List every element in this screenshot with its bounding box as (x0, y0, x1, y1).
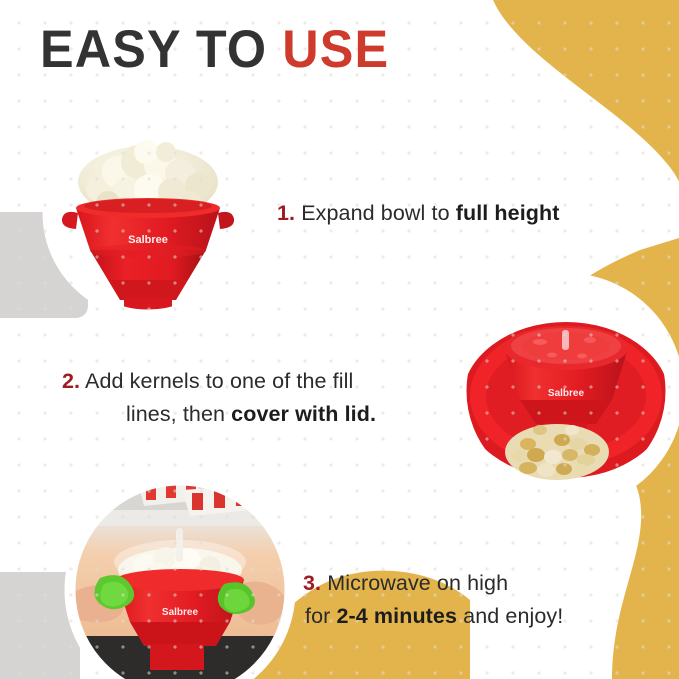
step-2-line2-bold: cover with lid. (231, 402, 376, 426)
step-2-line1-regular: Add kernels to one of the fill (80, 369, 353, 393)
step-1-line1-bold: full height (456, 201, 560, 225)
step-3-line2-regular: for (305, 604, 336, 628)
svg-text:Salbree: Salbree (548, 388, 585, 399)
page-title: EASY TO USE (40, 22, 389, 78)
step-3-line1-regular: Microwave on high (321, 571, 508, 595)
step-2-line2: lines, then cover with lid. (62, 398, 422, 431)
step-3-line2-tail: and enjoy! (457, 604, 563, 628)
title-accent: USE (282, 20, 389, 79)
step-1-line1-regular: Expand bowl to (295, 201, 456, 225)
step-3-line2: for 2-4 minutes and enjoy! (303, 600, 633, 633)
step-2-number: 2. (62, 369, 80, 393)
svg-text:Salbree: Salbree (128, 234, 168, 246)
step-2-line2-regular: lines, then (126, 402, 231, 426)
title-part-1: EASY TO (40, 20, 282, 79)
step-3-line2-bold: 2-4 minutes (336, 604, 457, 628)
step-2-text: 2. Add kernels to one of the fill lines,… (62, 365, 422, 431)
infographic-canvas: Salbree (0, 0, 679, 679)
svg-text:Salbree: Salbree (162, 607, 199, 618)
step-3-number: 3. (303, 571, 321, 595)
step-1-text: 1. Expand bowl to full height (277, 197, 560, 230)
step-3-text: 3. Microwave on high for 2-4 minutes and… (303, 567, 633, 633)
step-1-number: 1. (277, 201, 295, 225)
